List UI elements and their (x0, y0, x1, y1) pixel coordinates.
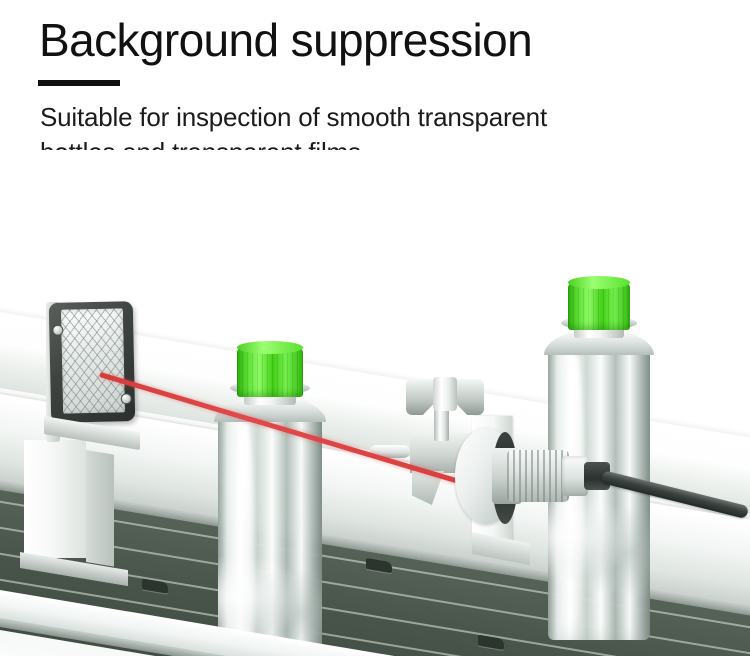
title-underline-rule (38, 80, 120, 86)
wing-lobe-right (454, 379, 484, 415)
screenshot-root: Background suppression Suitable for insp… (0, 0, 750, 656)
wing-lobe-left (406, 379, 436, 415)
page-title: Background suppression (39, 13, 532, 67)
clamp-wing-screw-icon (406, 379, 484, 415)
wing-screw-hub (433, 377, 457, 411)
bottle-cap-top (568, 276, 630, 289)
subtitle-line-1: Suitable for inspection of smooth transp… (40, 100, 720, 135)
guard-rail-leg (24, 440, 86, 558)
reflector-panel (49, 301, 135, 423)
bottle-waist-highlight (548, 495, 650, 598)
bottle-front (218, 405, 322, 656)
bottle-cap-green (568, 282, 630, 330)
product-scene-image (0, 150, 750, 656)
laser-sensor-barrel (507, 450, 569, 502)
bottle-specular-highlight (237, 423, 254, 656)
conveyor-slat-tab (366, 558, 392, 573)
bottle-cap-green (237, 347, 303, 397)
guard-rail-leg-side (86, 450, 114, 567)
reflector-prismatic-face (61, 308, 125, 413)
bottle-cap-top (237, 341, 303, 354)
reflector-screw-icon (121, 393, 132, 404)
